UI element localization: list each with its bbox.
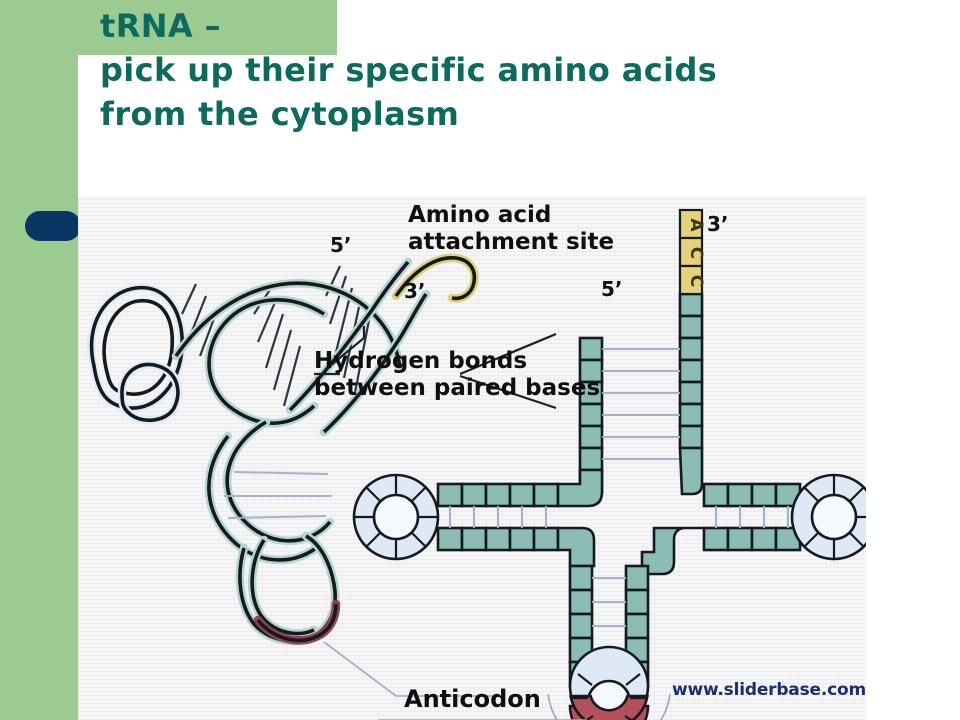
green-sidebar-decoration bbox=[0, 0, 78, 720]
t-arm bbox=[642, 475, 866, 574]
t-loop bbox=[792, 475, 866, 559]
navy-accent-pill bbox=[25, 211, 81, 241]
five-prime-label-3d: 5’ bbox=[330, 234, 352, 257]
hydrogen-bonds-label: Hydrogen bonds between paired bases bbox=[314, 348, 600, 401]
three-prime-label-3d: 3’ bbox=[404, 280, 426, 303]
d-loop bbox=[354, 475, 438, 559]
acc-base-a: A bbox=[686, 218, 706, 232]
anticodon-loop bbox=[570, 647, 648, 720]
d-arm bbox=[354, 470, 602, 566]
amino-acid-attachment-label: Amino acid attachment site bbox=[408, 202, 614, 255]
three-prime-label-cloverleaf: 3’ bbox=[707, 213, 729, 236]
source-watermark: www.sliderbase.com bbox=[672, 680, 866, 700]
slide-canvas: tRNA – pick up their specific amino acid… bbox=[0, 0, 960, 720]
anticodon-label: Anticodon bbox=[404, 686, 541, 714]
acc-base-c1: C bbox=[686, 247, 706, 259]
d-arm-bottom-bend bbox=[558, 528, 594, 566]
trna-3d-structure bbox=[92, 258, 498, 696]
trna-figure: .bb { fill:#9ec9c2; stroke:#151a20; stro… bbox=[78, 196, 866, 720]
t-arm-return-bend bbox=[642, 528, 704, 574]
acceptor-stem-right-strand bbox=[680, 294, 702, 448]
acc-bases: A C C bbox=[680, 210, 706, 294]
five-prime-label-cloverleaf: 5’ bbox=[601, 278, 623, 301]
acc-base-c2: C bbox=[686, 275, 706, 287]
slide-title: tRNA – pick up their specific amino acid… bbox=[100, 4, 940, 136]
d-arm-top-bend bbox=[558, 470, 602, 506]
acceptor-stem-base-pairs bbox=[602, 349, 680, 459]
accept-to-tarm-bend bbox=[680, 448, 702, 494]
trna-diagram-svg: .bb { fill:#9ec9c2; stroke:#151a20; stro… bbox=[78, 196, 866, 720]
